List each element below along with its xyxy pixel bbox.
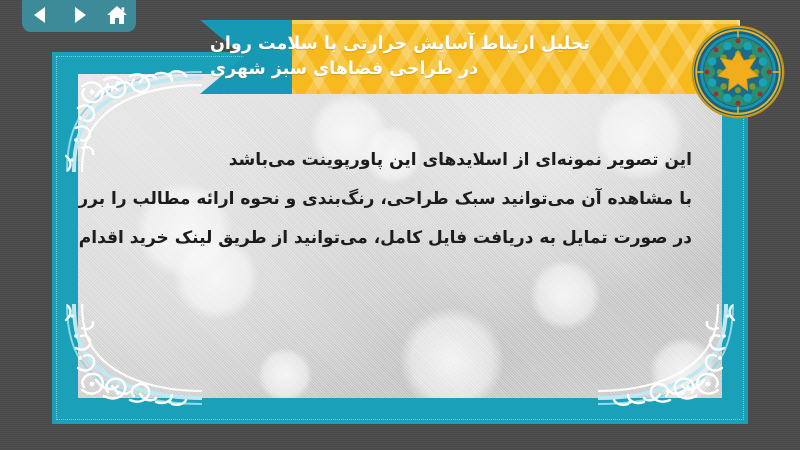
next-slide-button[interactable] xyxy=(66,3,92,27)
slide-body-text: این تصویر نمونه‌ای از اسلایدهای این پاور… xyxy=(108,152,692,247)
bokeh-circle xyxy=(650,338,716,398)
bokeh-circle xyxy=(174,236,258,320)
right-triangle-icon xyxy=(69,5,89,25)
body-line-3: در صورت تمایل به دریافت فایل کامل، می‌تو… xyxy=(108,230,692,247)
bokeh-circle xyxy=(258,348,312,398)
body-line-1: این تصویر نمونه‌ای از اسلایدهای این پاور… xyxy=(108,152,692,169)
previous-slide-button[interactable] xyxy=(28,3,54,27)
slide-viewer-stage: این تصویر نمونه‌ای از اسلایدهای این پاور… xyxy=(0,0,800,450)
title-line-2: در طراحی فضاهای سبز شهری xyxy=(210,57,478,82)
slide-canvas: این تصویر نمونه‌ای از اسلایدهای این پاور… xyxy=(78,74,722,398)
bokeh-circle xyxy=(530,260,600,330)
bokeh-circle xyxy=(400,308,504,398)
title-line-1: تحلیل ارتباط آسایش حرارتی با سلامت روان xyxy=(210,32,590,57)
home-icon xyxy=(106,5,128,25)
slide-frame: این تصویر نمونه‌ای از اسلایدهای این پاور… xyxy=(52,52,748,424)
persian-medallion-ornament xyxy=(690,24,786,120)
slide-title: تحلیل ارتباط آسایش حرارتی با سلامت روان … xyxy=(200,20,740,94)
home-button[interactable] xyxy=(104,3,130,27)
slide-navigation-bar xyxy=(22,0,136,32)
slide-title-banner: تحلیل ارتباط آسایش حرارتی با سلامت روان … xyxy=(200,20,740,94)
left-triangle-icon xyxy=(31,5,51,25)
body-line-2: با مشاهده آن می‌توانید سبک طراحی، رنگ‌بن… xyxy=(108,191,692,208)
